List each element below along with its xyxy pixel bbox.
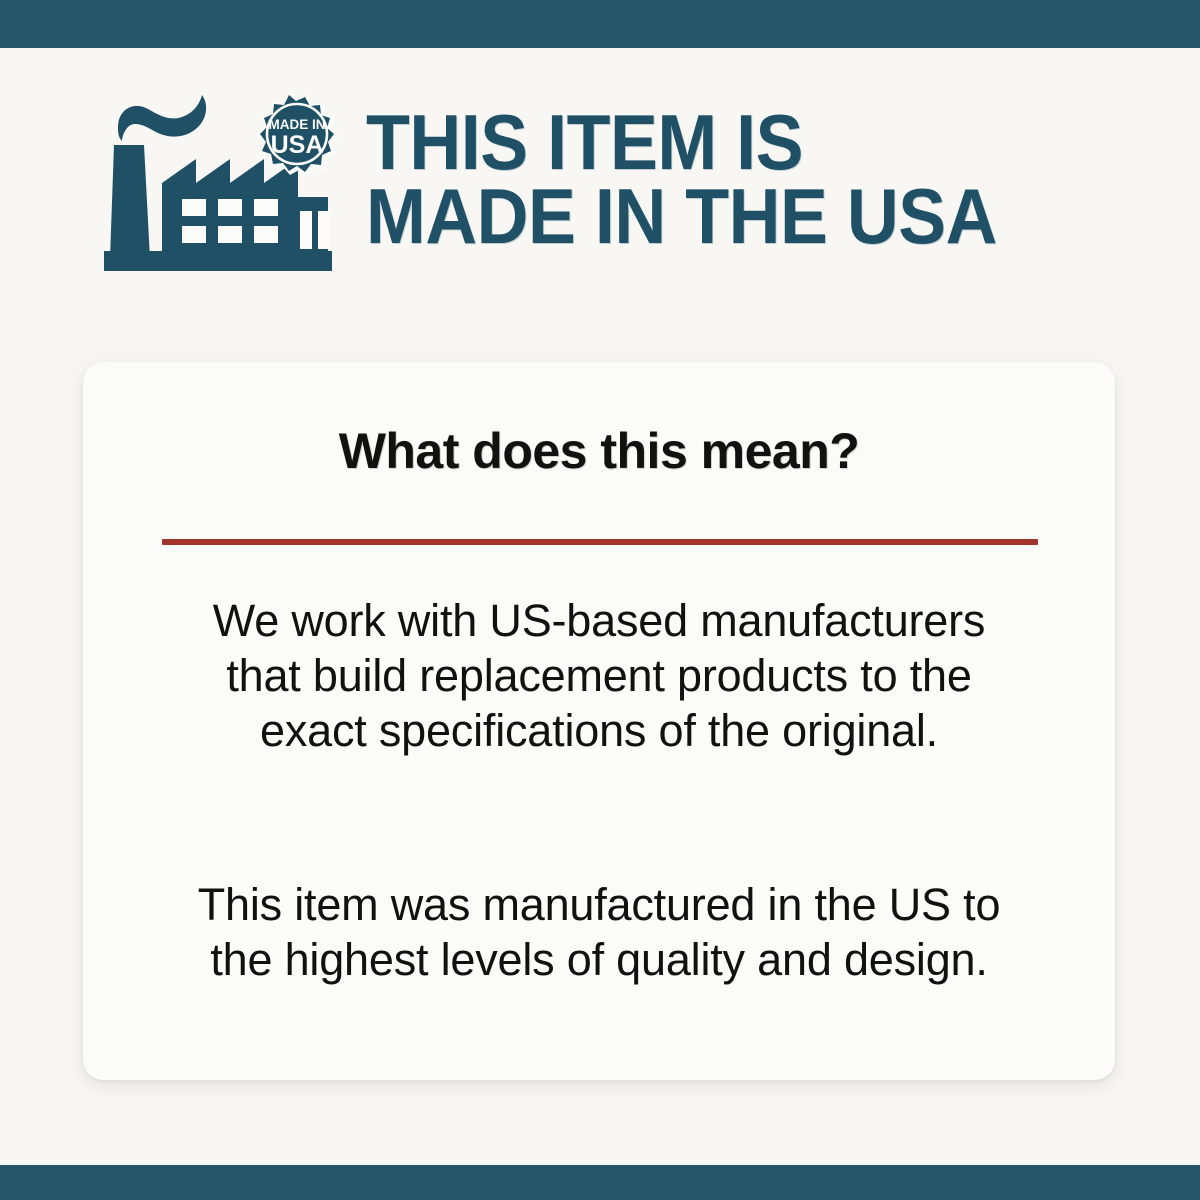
paragraph-one: We work with US-based manufacturers that… bbox=[83, 594, 1115, 759]
card-heading: What does this mean? bbox=[83, 422, 1115, 480]
top-accent-bar bbox=[0, 0, 1200, 48]
paragraph-two-line-2: the highest levels of quality and design… bbox=[83, 933, 1115, 988]
page-title: THIS ITEM IS MADE IN THE USA bbox=[366, 105, 997, 253]
headline-line-1: THIS ITEM IS bbox=[366, 105, 997, 179]
badge-line2: USA bbox=[271, 131, 324, 159]
paragraph-two-line-1: This item was manufactured in the US to bbox=[83, 878, 1115, 933]
paragraph-one-line-3: exact specifications of the original. bbox=[83, 704, 1115, 759]
headline-line-2: MADE IN THE USA bbox=[366, 179, 997, 253]
bottom-accent-bar bbox=[0, 1165, 1200, 1200]
red-divider bbox=[162, 539, 1038, 545]
made-in-usa-badge-icon: MADE IN USA bbox=[257, 91, 340, 176]
factory-icon: MADE IN USA bbox=[100, 87, 342, 277]
made-in-usa-banner: MADE IN USA THIS ITEM IS MADE IN THE USA… bbox=[0, 0, 1200, 1200]
paragraph-two: This item was manufactured in the US to … bbox=[83, 878, 1115, 988]
paragraph-one-line-1: We work with US-based manufacturers bbox=[83, 594, 1115, 649]
info-card: What does this mean? We work with US-bas… bbox=[83, 362, 1115, 1080]
paragraph-one-line-2: that build replacement products to the bbox=[83, 649, 1115, 704]
header: MADE IN USA THIS ITEM IS MADE IN THE USA bbox=[0, 48, 1200, 310]
badge-line1: MADE IN bbox=[269, 117, 326, 132]
